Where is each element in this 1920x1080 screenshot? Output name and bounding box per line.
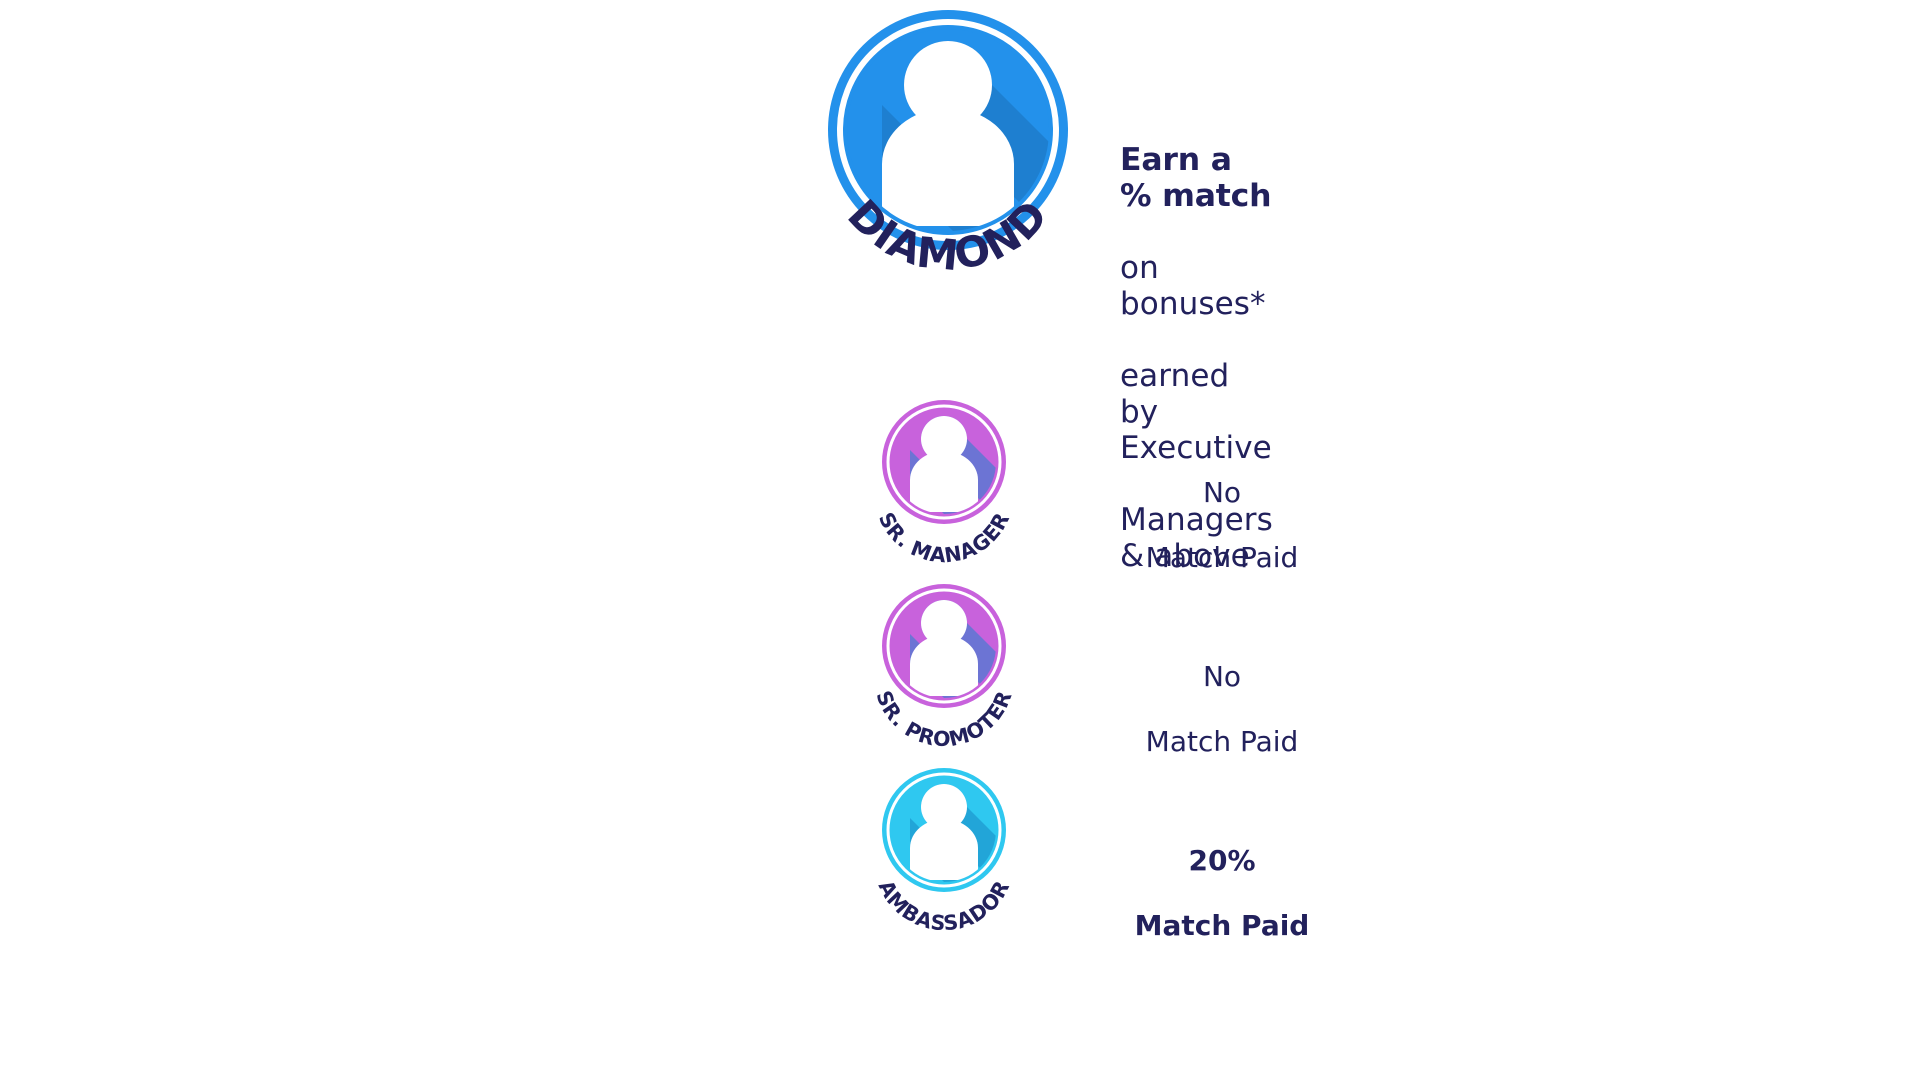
sr-manager-benefit-line1: No xyxy=(1052,477,1392,509)
badge-sr-manager[interactable]: SR. MANAGER xyxy=(876,400,1056,580)
sr-promoter-benefit-text: No Match Paid xyxy=(1052,629,1392,791)
sr-promoter-benefit-line2: Match Paid xyxy=(1052,726,1392,758)
diamond-badge-svg: DIAMOND xyxy=(820,8,1120,308)
infographic-canvas: DIAMOND Earn a % match on bonuses* earne… xyxy=(0,0,1920,1080)
badge-ambassador[interactable]: AMBASSADOR xyxy=(876,768,1056,948)
sr-manager-benefit-text: No Match Paid xyxy=(1052,445,1392,607)
diamond-benefit-headline: Earn a % match xyxy=(1120,142,1273,215)
ambassador-benefit-line2: Match Paid xyxy=(1052,910,1392,942)
diamond-benefit-line2: on bonuses* xyxy=(1120,251,1273,323)
ambassador-avatar-body xyxy=(910,819,978,880)
badge-sr-promoter[interactable]: SR. PROMOTER xyxy=(876,584,1056,764)
ambassador-benefit-line1: 20% xyxy=(1052,845,1392,877)
sr-manager-badge-svg: SR. MANAGER xyxy=(876,400,1056,580)
sr-manager-benefit-line2: Match Paid xyxy=(1052,542,1392,574)
sr-promoter-benefit-line1: No xyxy=(1052,661,1392,693)
sr-promoter-badge-svg: SR. PROMOTER xyxy=(876,584,1056,764)
badge-diamond[interactable]: DIAMOND xyxy=(820,8,1120,308)
sr-manager-avatar-body xyxy=(910,451,978,512)
ambassador-badge-svg: AMBASSADOR xyxy=(876,768,1056,948)
ambassador-benefit-text: 20% Match Paid xyxy=(1052,813,1392,975)
sr-promoter-avatar-body xyxy=(910,635,978,696)
diamond-avatar-body xyxy=(882,108,1014,226)
